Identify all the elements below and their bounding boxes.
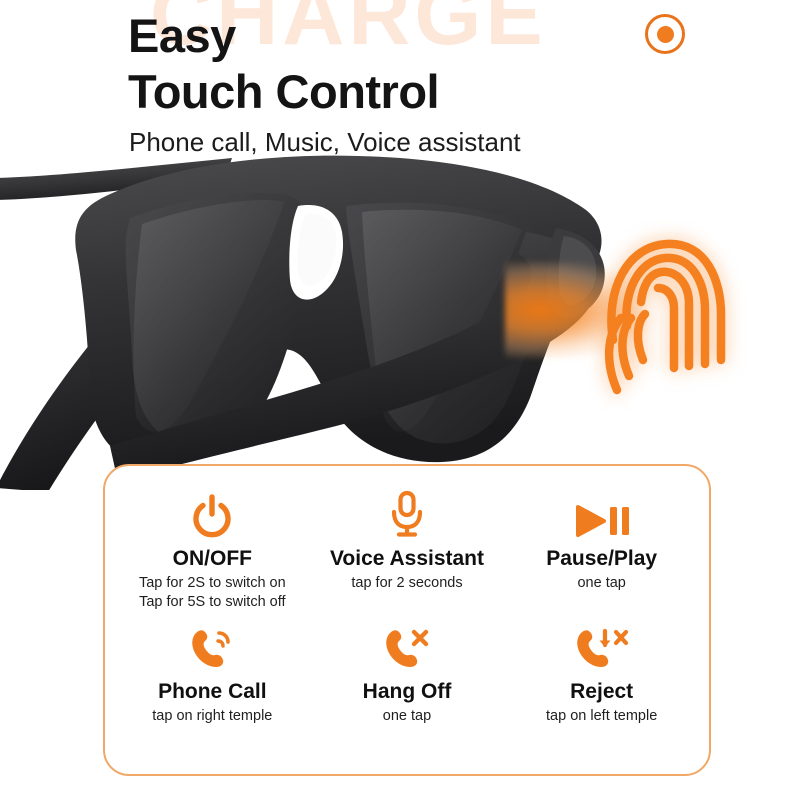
phone-hangup-icon [381, 625, 433, 671]
phone-reject-icon [572, 625, 632, 671]
phone-call-icon [187, 625, 237, 671]
touch-controls-card: ON/OFF Tap for 2S to switch on Tap for 5… [103, 464, 711, 776]
page-title: Easy Touch Control [128, 8, 439, 120]
control-title: Pause/Play [546, 546, 657, 571]
control-item-hang-off[interactable]: Hang Off one tap [310, 625, 505, 760]
control-subtitle: tap on left temple [546, 707, 657, 726]
control-subtitle: one tap [577, 574, 625, 593]
control-subtitle: Tap for 2S to switch on Tap for 5S to sw… [139, 574, 286, 612]
touch-controls-grid: ON/OFF Tap for 2S to switch on Tap for 5… [105, 466, 709, 774]
control-item-phone-call[interactable]: Phone Call tap on right temple [115, 625, 310, 760]
product-infographic: CHARGE Easy Touch Control Phone call, Mu… [0, 0, 800, 800]
microphone-icon [388, 490, 426, 538]
control-subtitle: one tap [383, 707, 431, 726]
control-item-reject[interactable]: Reject tap on left temple [504, 625, 699, 760]
control-title: Voice Assistant [330, 546, 484, 571]
control-title: ON/OFF [173, 546, 252, 571]
control-item-on-off[interactable]: ON/OFF Tap for 2S to switch on Tap for 5… [115, 490, 310, 625]
control-title: Reject [570, 679, 633, 704]
target-dot-icon [645, 14, 685, 54]
control-subtitle: tap on right temple [152, 707, 272, 726]
product-image-stage [0, 150, 800, 480]
power-icon [192, 490, 232, 538]
fingerprint-icon [583, 230, 733, 410]
control-title: Hang Off [363, 679, 452, 704]
control-title: Phone Call [158, 679, 267, 704]
control-subtitle: tap for 2 seconds [351, 574, 462, 593]
target-dot-inner [657, 26, 674, 43]
page-title-line1: Easy [128, 9, 236, 62]
page-title-line2: Touch Control [128, 64, 439, 120]
control-item-voice-assistant[interactable]: Voice Assistant tap for 2 seconds [310, 490, 505, 625]
play-pause-icon [574, 490, 630, 538]
control-item-pause-play[interactable]: Pause/Play one tap [504, 490, 699, 625]
